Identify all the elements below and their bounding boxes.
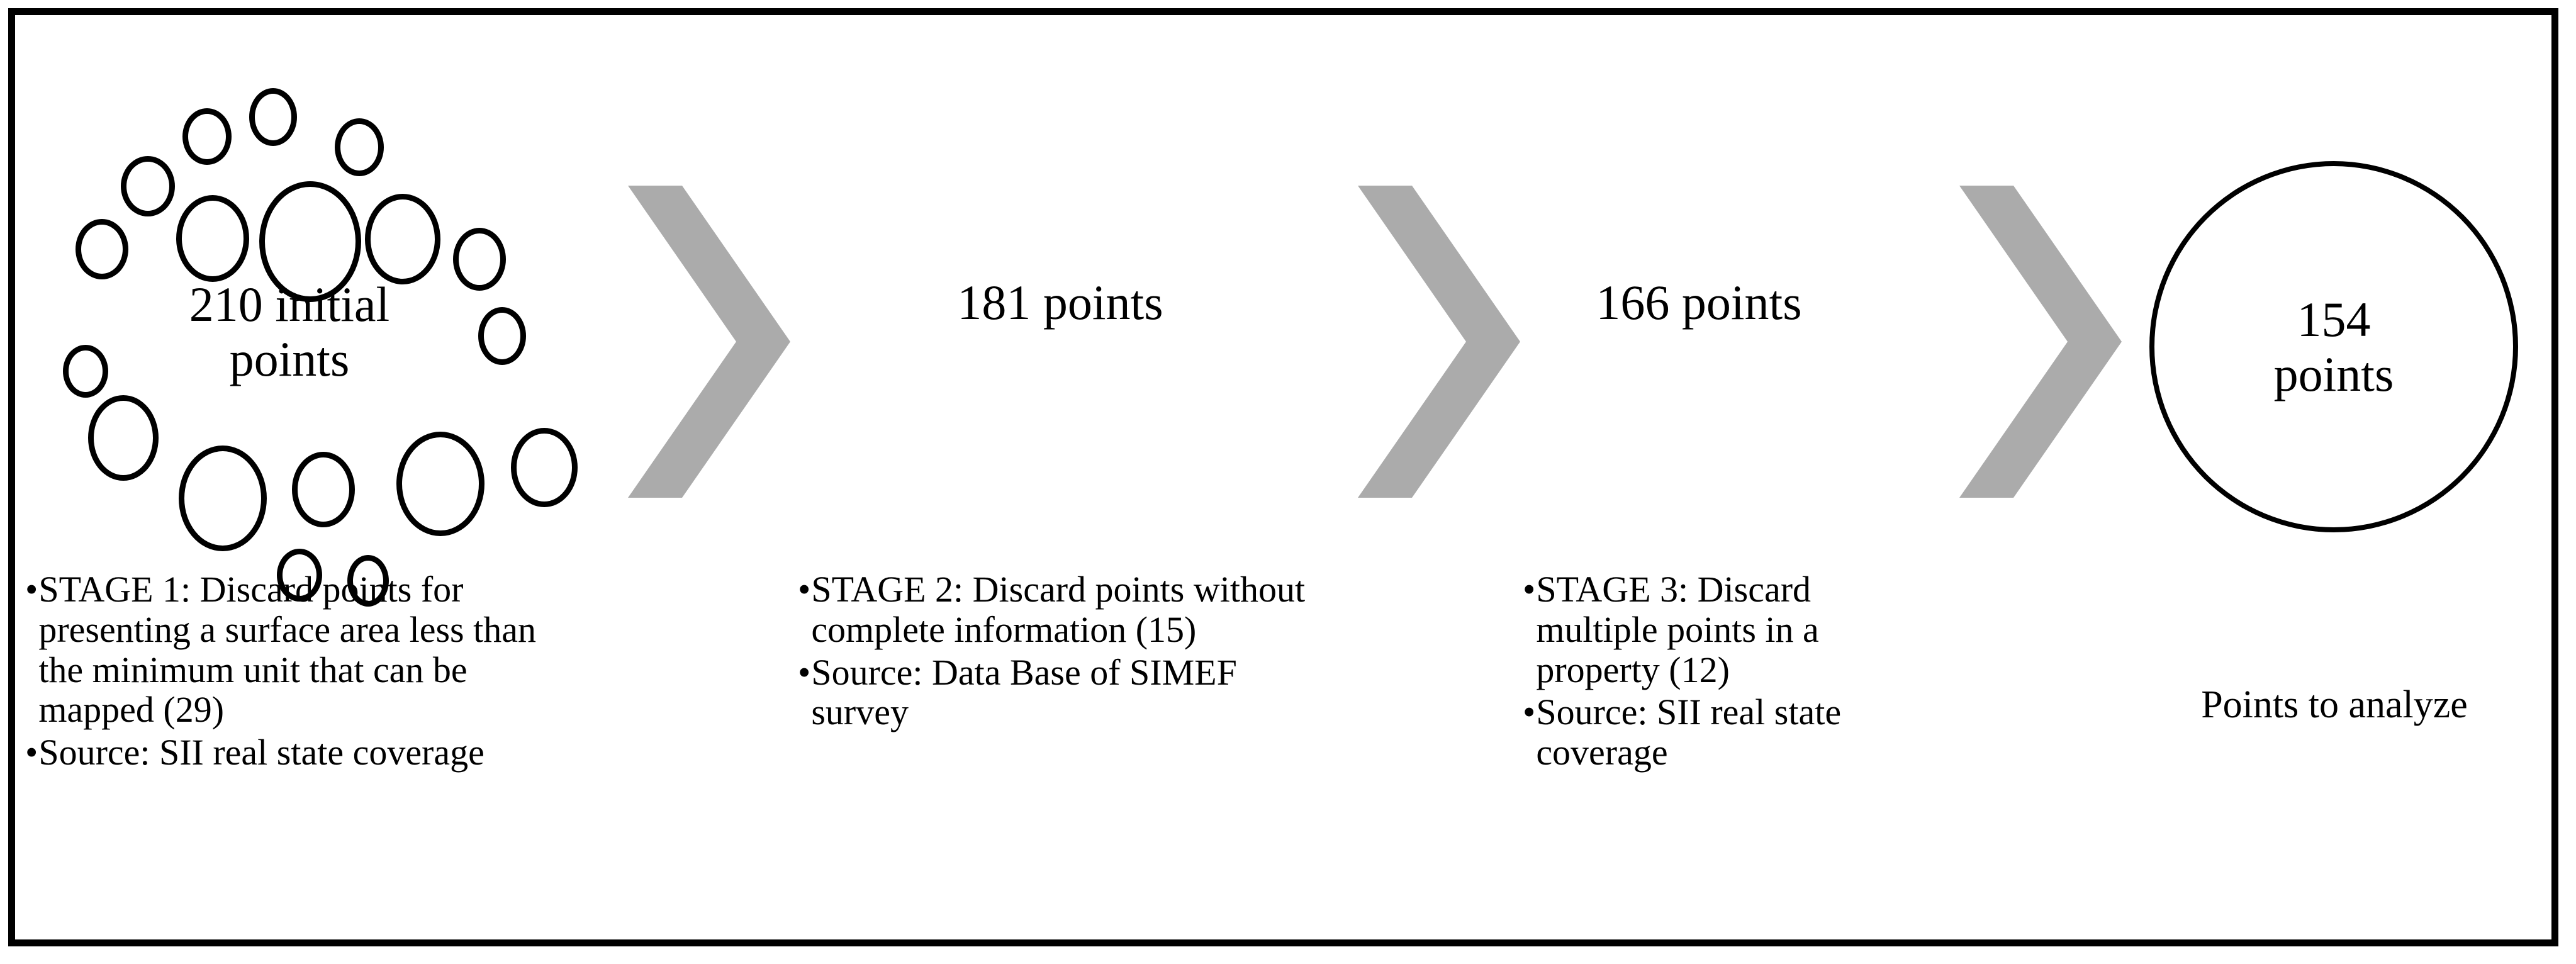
stage-4-count-label: 154 points [2274, 292, 2394, 402]
list-item: • Source: Data Base of SIMEF survey [798, 653, 1320, 733]
bullet-dot-icon: • [25, 732, 38, 773]
list-item: • STAGE 1: Discard points for presenting… [25, 569, 585, 730]
cluster-point-circle [249, 88, 297, 146]
cluster-point-circle [182, 108, 232, 165]
cluster-point-circle [292, 452, 355, 527]
list-item-text: STAGE 1: Discard points for presenting a… [38, 569, 585, 730]
diagram-canvas: 210 initial points 181 points 166 points… [0, 0, 2576, 964]
chevron-right-icon-2 [1358, 186, 1520, 498]
stage-1-count-line-1: 210 initial [63, 277, 516, 332]
stage-2-count-label: 181 points [871, 276, 1249, 330]
list-item-text: STAGE 3: Discard multiple points in a pr… [1536, 569, 1925, 690]
bullet-dot-icon: • [798, 653, 810, 693]
bullet-dot-icon: • [1523, 692, 1535, 732]
cluster-point-circle [176, 195, 249, 282]
stage-4-count-line-2: points [2274, 347, 2394, 401]
cluster-point-circle [88, 395, 159, 481]
cluster-point-circle [335, 118, 384, 176]
bullet-dot-icon: • [1523, 569, 1535, 610]
stage-1-count-label: 210 initial points [63, 277, 516, 387]
stage-4-count-line-1: 154 [2274, 292, 2394, 347]
list-item: • Source: SII real state coverage [25, 732, 585, 773]
bullet-dot-icon: • [25, 569, 38, 610]
cluster-point-circle [76, 219, 128, 279]
list-item: • STAGE 2: Discard points without comple… [798, 569, 1320, 650]
final-caption: Points to analyze [2133, 683, 2536, 727]
list-item-text: STAGE 2: Discard points without complete… [811, 569, 1320, 650]
list-item-text: Source: SII real state coverage [38, 732, 585, 773]
point-cluster-graphic: 210 initial points [63, 88, 579, 554]
cluster-point-circle [511, 428, 578, 507]
cluster-point-circle [365, 194, 440, 284]
final-result-circle: 154 points [2149, 161, 2518, 532]
stage-1-bullet-list: • STAGE 1: Discard points for presenting… [25, 569, 585, 775]
chevron-right-icon-1 [628, 186, 790, 498]
bullet-dot-icon: • [798, 569, 810, 610]
list-item: • Source: SII real state coverage [1523, 692, 1925, 773]
list-item: • STAGE 3: Discard multiple points in a … [1523, 569, 1925, 690]
list-item-text: Source: Data Base of SIMEF survey [811, 653, 1320, 733]
stage-1-count-line-2: points [63, 332, 516, 386]
stage-3-bullet-list: • STAGE 3: Discard multiple points in a … [1523, 569, 1925, 775]
stage-3-count-label: 166 points [1510, 276, 1888, 330]
cluster-point-circle [121, 156, 175, 216]
chevron-right-icon-3 [1959, 186, 2122, 498]
cluster-point-circle [396, 432, 484, 536]
list-item-text: Source: SII real state coverage [1536, 692, 1925, 773]
stage-2-bullet-list: • STAGE 2: Discard points without comple… [798, 569, 1320, 735]
cluster-point-circle [179, 446, 267, 551]
